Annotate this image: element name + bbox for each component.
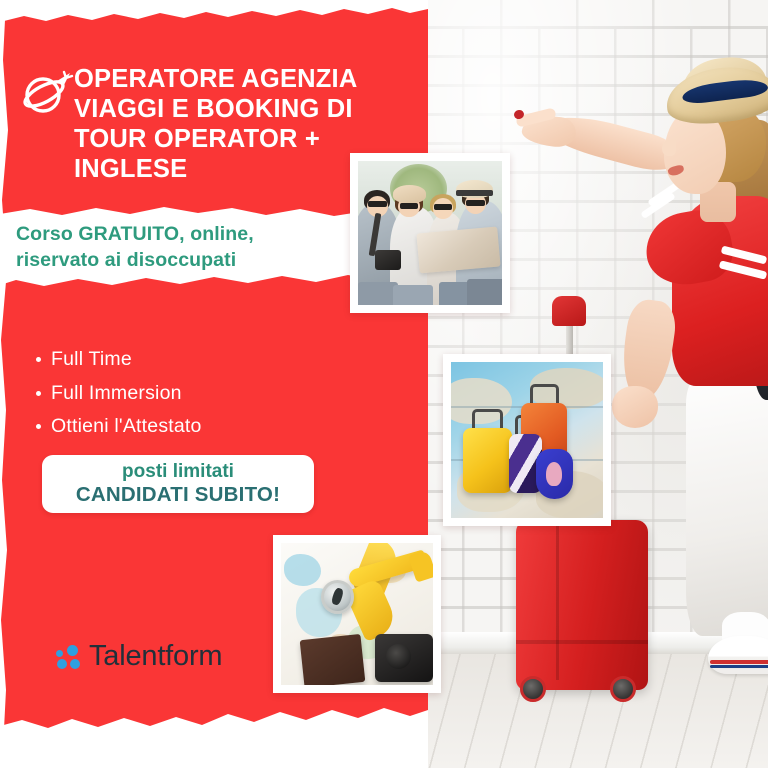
list-item: Ottieni l'Attestato: [36, 410, 376, 444]
colorful-luggage-photo: [443, 354, 611, 526]
globe-plane-icon: [20, 66, 74, 120]
list-item: Full Time: [36, 343, 376, 377]
bullet-dot-icon: [36, 357, 41, 362]
camera: [375, 634, 433, 682]
logo-dots-icon: [56, 644, 84, 670]
sneaker-red-stripe: [710, 660, 768, 664]
passport: [300, 634, 366, 685]
talentform-logo[interactable]: Talentform: [56, 640, 222, 673]
list-item-label: Full Immersion: [51, 377, 182, 411]
blue-backpack: [536, 449, 572, 499]
list-item-label: Full Time: [51, 343, 132, 377]
cta-line-1: posti limitati: [122, 461, 234, 482]
cta-line-2: CANDIDATI SUBITO!: [76, 483, 280, 507]
travel-flatlay-photo: [273, 535, 441, 693]
apply-now-button[interactable]: posti limitati CANDIDATI SUBITO!: [42, 455, 314, 513]
suitcase-wheel: [520, 676, 546, 702]
toy-plane-tail: [408, 549, 433, 583]
suitcase-lip: [516, 640, 648, 644]
suitcase-wheel: [610, 676, 636, 702]
bullet-dot-icon: [36, 391, 41, 396]
subtitle-block: Corso GRATUITO, online, riservato ai dis…: [16, 222, 356, 273]
hand-on-suitcase-handle: [612, 386, 658, 428]
suitcase-seam: [556, 520, 559, 680]
nose: [662, 140, 676, 156]
yellow-suitcase: [463, 428, 512, 494]
white-sneaker: [708, 636, 768, 674]
feature-list: Full Time Full Immersion Ottieni l'Attes…: [36, 343, 376, 444]
white-pants: [686, 366, 768, 636]
red-suitcase: [516, 520, 648, 690]
subtitle-line-1: Corso GRATUITO, online,: [16, 222, 356, 248]
sneaker-blue-stripe: [710, 665, 768, 668]
tourists-with-map-photo: [350, 153, 510, 313]
list-item: Full Immersion: [36, 377, 376, 411]
list-item-label: Ottieni l'Attestato: [51, 410, 202, 444]
promo-poster: OPERATORE AGENZIA VIAGGI E BOOKING DI TO…: [0, 0, 768, 768]
subtitle-line-2: riservato ai disoccupati: [16, 248, 356, 274]
compass-icon: [321, 580, 354, 614]
bullet-dot-icon: [36, 424, 41, 429]
logo-wordmark: Talentform: [89, 640, 222, 673]
suitcase-handle-grip: [552, 296, 586, 326]
